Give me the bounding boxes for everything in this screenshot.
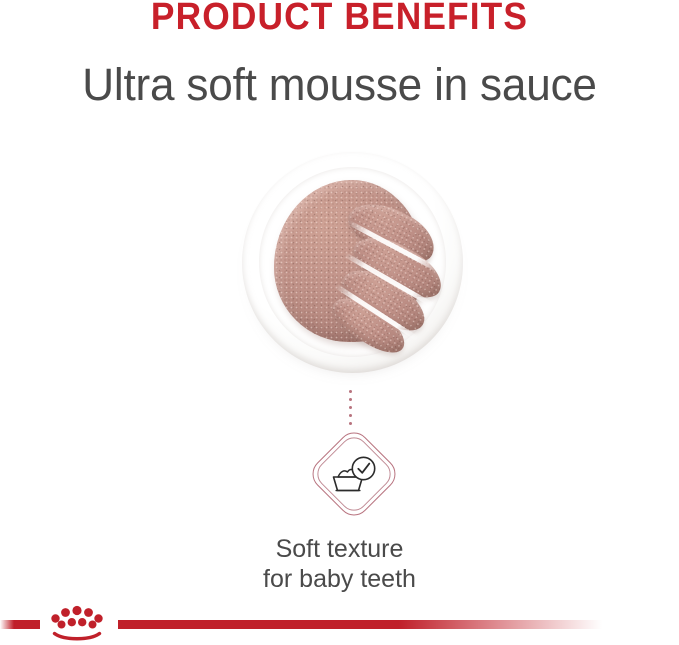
- brand-footer: [0, 596, 679, 645]
- connector-dot: [349, 398, 352, 401]
- connector-dot: [349, 422, 352, 425]
- benefit-caption: Soft texture for baby teeth: [0, 534, 679, 594]
- mousse-food: [242, 152, 463, 373]
- dotted-connector-line: [349, 390, 355, 426]
- royal-canin-crown-logo: [42, 596, 112, 645]
- connector-dot: [349, 390, 352, 393]
- product-photo: [242, 152, 463, 373]
- bowl-with-check-icon: [330, 451, 378, 497]
- benefit-caption-line-1: Soft texture: [0, 534, 679, 564]
- connector-dot: [349, 414, 352, 417]
- footer-rule-right: [118, 620, 602, 629]
- page-headline: Ultra soft mousse in sauce: [7, 58, 672, 112]
- page-eyebrow-title: PRODUCT BENEFITS: [24, 0, 655, 40]
- footer-rule-left: [0, 620, 40, 629]
- benefit-badge: [316, 436, 392, 512]
- connector-dot: [349, 406, 352, 409]
- benefit-caption-line-2: for baby teeth: [0, 564, 679, 594]
